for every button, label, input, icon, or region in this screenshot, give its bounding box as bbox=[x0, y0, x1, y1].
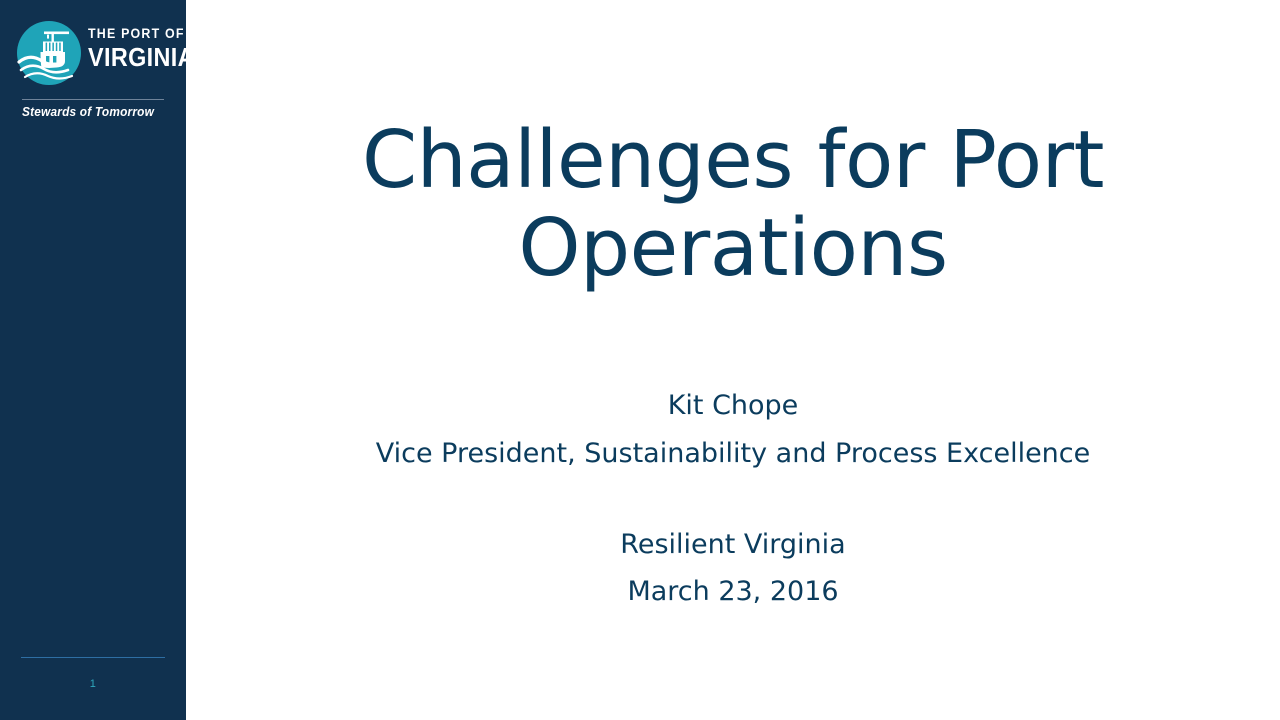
presenter-block: Kit Chope Vice President, Sustainability… bbox=[246, 388, 1220, 471]
presenter-role: Vice President, Sustainability and Proce… bbox=[246, 436, 1220, 471]
page-title: Challenges for Port Operations bbox=[246, 116, 1220, 293]
brand-wordmark-line-small: THE PORT OF bbox=[88, 27, 173, 41]
event-name: Resilient Virginia bbox=[246, 527, 1220, 562]
presenter-name: Kit Chope bbox=[246, 388, 1220, 423]
slide-number: 1 bbox=[0, 678, 186, 690]
brand-divider-rule bbox=[22, 99, 164, 100]
sidebar-panel: THE PORT OF VIRGINIA Stewards of Tomorro… bbox=[0, 0, 186, 720]
event-block: Resilient Virginia March 23, 2016 bbox=[246, 527, 1220, 609]
brand-logo: THE PORT OF VIRGINIA Stewards of Tomorro… bbox=[0, 14, 186, 114]
brand-wordmark-line-big: VIRGINIA bbox=[88, 44, 171, 71]
sidebar-footer-rule bbox=[21, 657, 165, 658]
presentation-slide: THE PORT OF VIRGINIA Stewards of Tomorro… bbox=[0, 0, 1280, 720]
event-date: March 23, 2016 bbox=[246, 574, 1220, 609]
page-title-line-2: Operations bbox=[246, 204, 1220, 292]
brand-tagline: Stewards of Tomorrow bbox=[22, 105, 165, 119]
brand-wordmark: THE PORT OF VIRGINIA bbox=[88, 27, 180, 71]
slide-content: Challenges for Port Operations Kit Chope… bbox=[186, 0, 1280, 720]
page-title-line-1: Challenges for Port bbox=[246, 116, 1220, 204]
port-of-virginia-logo-icon bbox=[16, 20, 82, 86]
